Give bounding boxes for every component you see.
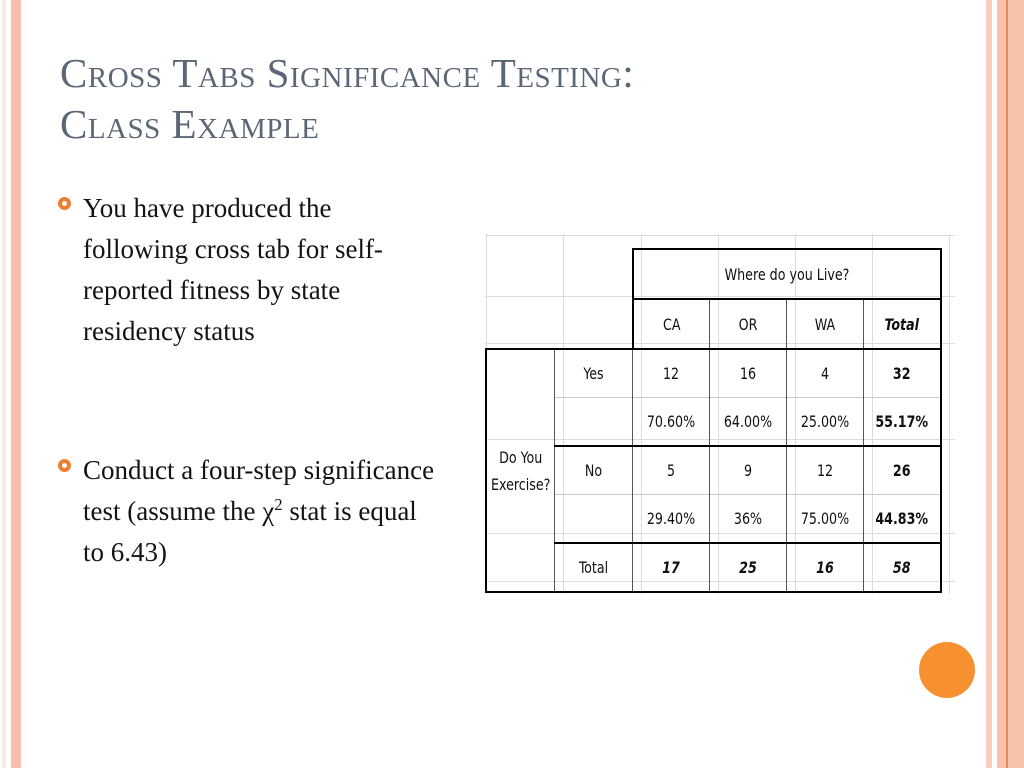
open-circle-bullet-icon	[58, 459, 71, 472]
column-header-wa: WA	[787, 299, 864, 349]
column-header-total: Total	[864, 299, 941, 349]
bullet-item-1: You have produced the following cross ta…	[58, 188, 458, 352]
crosstab-figure: Where do you Live? CA OR WA Total	[485, 234, 955, 594]
left-decorative-stripe-salmon	[11, 0, 21, 768]
chi-squared-exponent: 2	[274, 495, 282, 514]
cell-total-or: 25	[710, 543, 787, 592]
spreadsheet-gridline-v	[949, 234, 950, 594]
table-row-column-headers: CA OR WA Total	[486, 299, 941, 349]
cell-no-wa-count: 12	[787, 446, 864, 495]
cell-yes-or-percent: 64.00%	[710, 398, 787, 447]
table-row-column-group: Where do you Live?	[486, 249, 941, 299]
row-group-header: Do You Exercise?	[486, 349, 555, 592]
accent-dot-decoration	[919, 642, 975, 698]
row-label-yes: Yes	[555, 349, 633, 398]
cell-total-ca: 17	[633, 543, 710, 592]
table-row-total: Total 17 25 16 58	[486, 543, 941, 592]
cell-yes-ca-percent: 70.60%	[633, 398, 710, 447]
column-header-ca: CA	[633, 299, 710, 349]
corner-blank-3	[486, 299, 555, 349]
bullet-item-2-text: Conduct a four-step significance test (a…	[83, 450, 438, 573]
cell-no-wa-percent: 75.00%	[787, 495, 864, 544]
crosstab-table: Where do you Live? CA OR WA Total	[485, 248, 942, 593]
right-decorative-stripe-outer	[986, 0, 992, 768]
left-decorative-stripe-cream	[2, 0, 6, 768]
spreadsheet-gridline-h	[485, 235, 955, 236]
right-decorative-stripe-inner	[997, 0, 1006, 768]
table-row-yes-percents: 70.60% 64.00% 25.00% 55.17%	[486, 398, 941, 447]
corner-blank-1	[486, 249, 555, 299]
cell-yes-wa-percent: 25.00%	[787, 398, 864, 447]
column-header-or: OR	[710, 299, 787, 349]
right-decorative-block	[1008, 0, 1024, 768]
cell-no-total-percent: 44.83%	[864, 495, 941, 544]
cell-no-total-count: 26	[864, 446, 941, 495]
row-label-yes-percent-blank	[555, 398, 633, 447]
cell-yes-wa-count: 4	[787, 349, 864, 398]
cell-yes-total-percent: 55.17%	[864, 398, 941, 447]
cell-yes-ca-count: 12	[633, 349, 710, 398]
row-label-no-percent-blank	[555, 495, 633, 544]
cell-yes-total-count: 32	[864, 349, 941, 398]
row-label-total: Total	[555, 543, 633, 592]
table-row-no-counts: No 5 9 12 26	[486, 446, 941, 495]
page-title: Cross Tabs Significance Testing: Class E…	[60, 48, 840, 150]
bullet-item-2: Conduct a four-step significance test (a…	[58, 450, 458, 573]
corner-blank-4	[555, 299, 633, 349]
cell-total-grand: 58	[864, 543, 941, 592]
cell-total-wa: 16	[787, 543, 864, 592]
cell-no-ca-count: 5	[633, 446, 710, 495]
cell-no-or-percent: 36%	[710, 495, 787, 544]
corner-blank-2	[555, 249, 633, 299]
cell-yes-or-count: 16	[710, 349, 787, 398]
bullet-item-1-text-main: You have produced the following cross ta…	[83, 193, 383, 346]
open-circle-bullet-icon	[58, 197, 71, 210]
cell-no-or-count: 9	[710, 446, 787, 495]
bullet-item-1-text: You have produced the following cross ta…	[83, 188, 438, 352]
row-label-no: No	[555, 446, 633, 495]
column-group-header: Where do you Live?	[633, 249, 941, 299]
cell-no-ca-percent: 29.40%	[633, 495, 710, 544]
table-row-yes-counts: Do You Exercise? Yes 12 16 4 32	[486, 349, 941, 398]
table-row-no-percents: 29.40% 36% 75.00% 44.83%	[486, 495, 941, 544]
